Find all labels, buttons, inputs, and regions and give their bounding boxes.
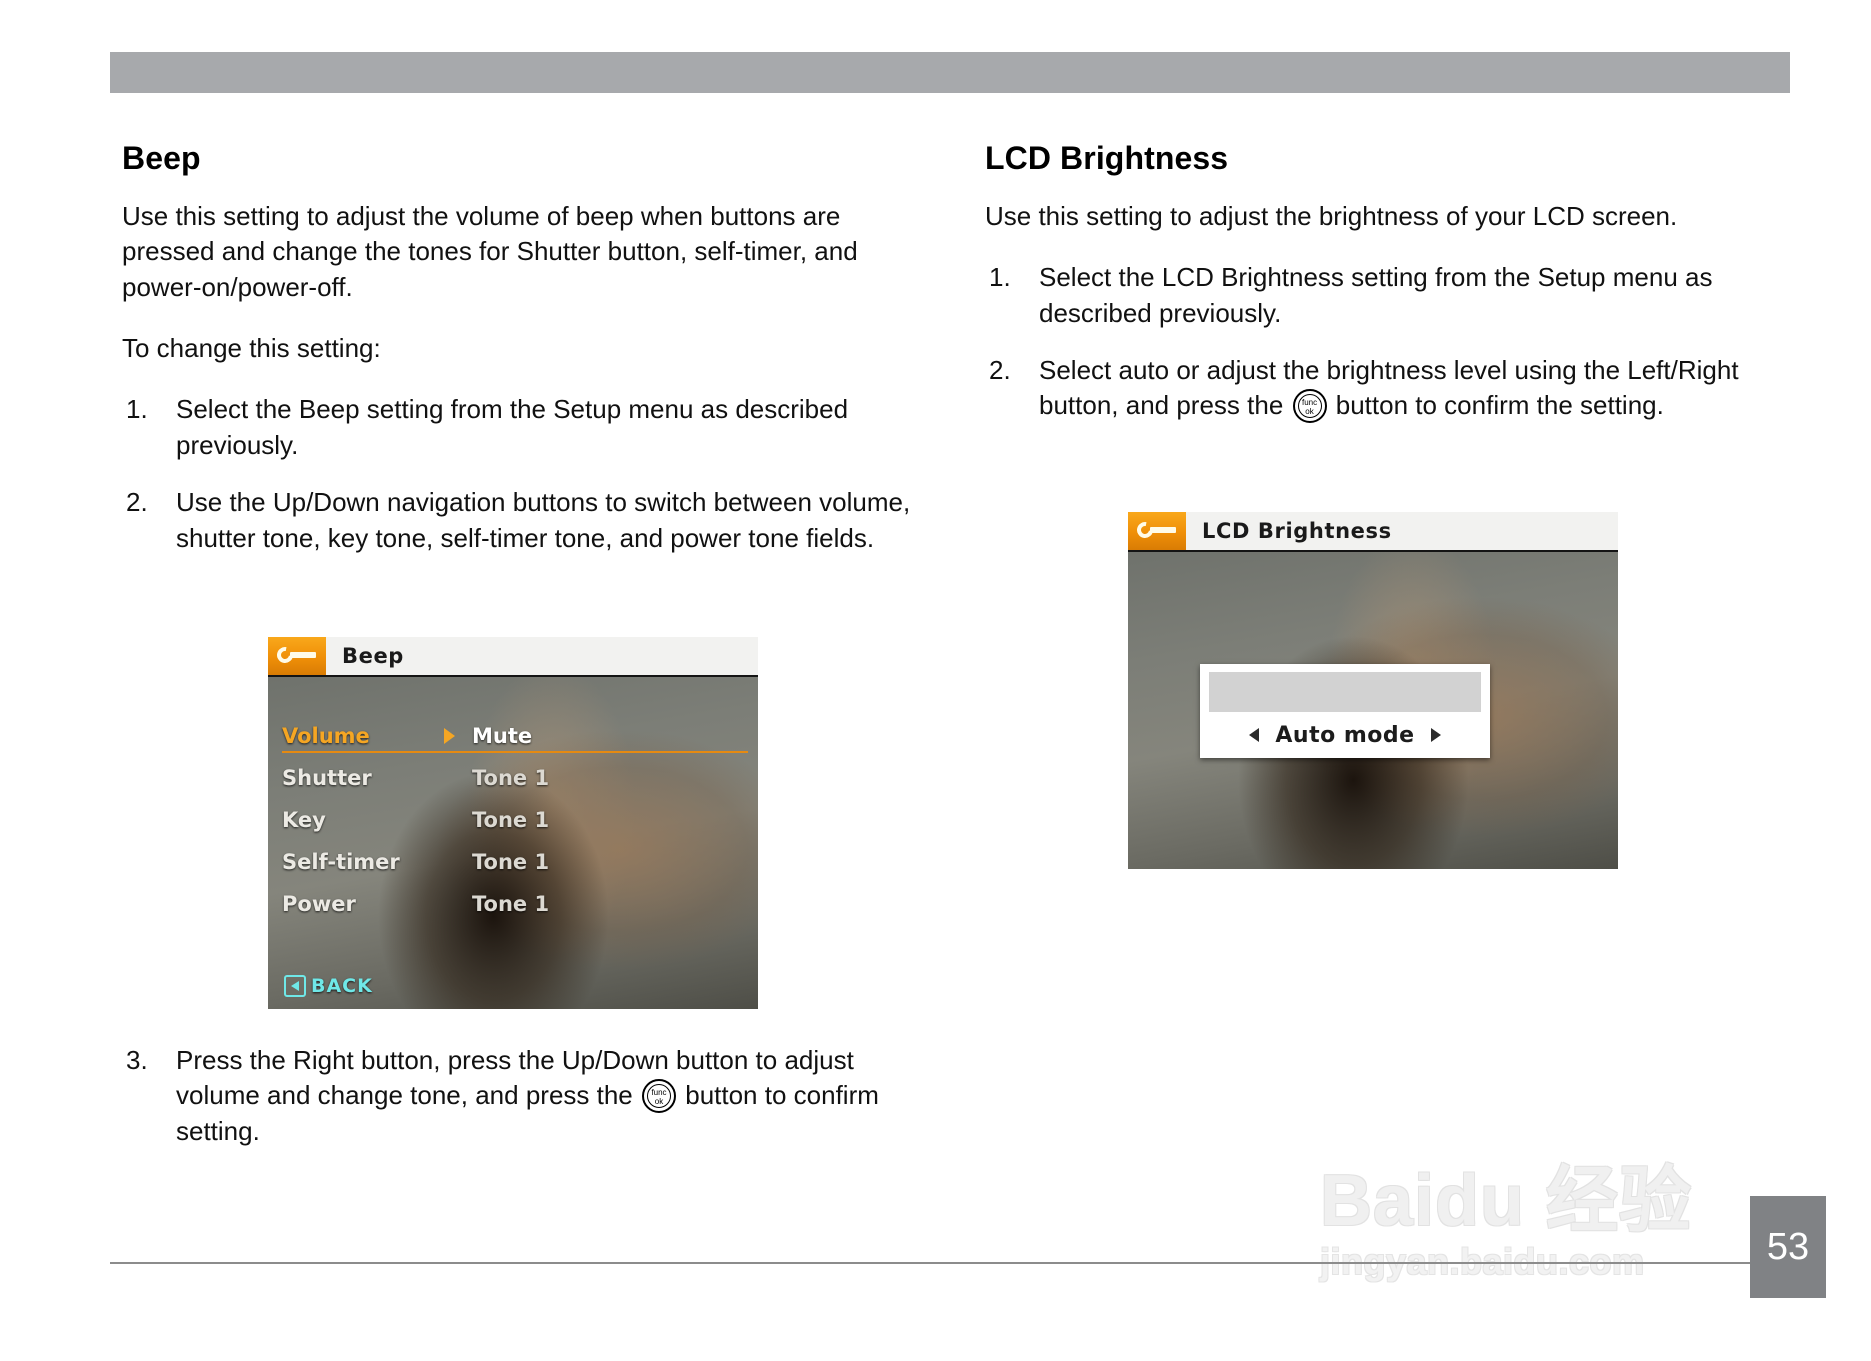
wrench-icon <box>1128 512 1186 550</box>
footer-divider <box>110 1262 1790 1264</box>
lcd-screenshot-titlebar: LCD Brightness <box>1128 512 1618 552</box>
step-number: 1. <box>126 392 166 427</box>
beep-row-label: Key <box>282 808 472 832</box>
beep-row-shutter[interactable]: Shutter Tone 1 <box>268 757 758 799</box>
step-number: 2. <box>989 353 1029 388</box>
left-column: Beep Use this setting to adjust the volu… <box>122 140 912 580</box>
chevron-right-icon[interactable] <box>1431 728 1441 742</box>
back-arrow-icon <box>284 975 306 997</box>
header-band <box>110 52 1790 93</box>
beep-row-value: Tone 1 <box>472 808 549 832</box>
page-number: 53 <box>1750 1196 1826 1298</box>
back-button[interactable]: BACK <box>284 975 373 997</box>
step-text: Select the Beep setting from the Setup m… <box>176 394 848 459</box>
func-ok-button-icon: func ok <box>1293 389 1327 423</box>
beep-step-list: 1. Select the Beep setting from the Setu… <box>122 392 912 555</box>
step-number: 2. <box>126 485 166 520</box>
beep-row-self-timer[interactable]: Self-timer Tone 1 <box>268 841 758 883</box>
func-ok-bottom-label: ok <box>1295 408 1325 416</box>
beep-screenshot-title: Beep <box>326 644 404 668</box>
selection-caret-icon <box>444 728 455 744</box>
list-item: 1. Select the Beep setting from the Setu… <box>122 392 912 463</box>
func-ok-bottom-label: ok <box>644 1098 674 1106</box>
list-item: 1. Select the LCD Brightness setting fro… <box>985 260 1785 331</box>
step-number: 3. <box>126 1043 166 1078</box>
beep-screenshot-body: Volume Mute Shutter Tone 1 Key Tone 1 Se… <box>268 677 758 1009</box>
list-item: 3. Press the Right button, press the Up/… <box>122 1043 912 1149</box>
step-number: 1. <box>989 260 1029 295</box>
beep-row-volume[interactable]: Volume Mute <box>268 715 758 757</box>
beep-row-value: Tone 1 <box>472 850 549 874</box>
lcd-brightness-screenshot: LCD Brightness Auto mode <box>1128 512 1618 867</box>
page-title-beep: Beep <box>122 140 912 177</box>
lcd-intro-paragraph: Use this setting to adjust the brightnes… <box>985 199 1785 234</box>
func-ok-top-label: func <box>1295 399 1325 407</box>
step-text: Select the LCD Brightness setting from t… <box>1039 262 1712 327</box>
beep-row-power[interactable]: Power Tone 1 <box>268 883 758 925</box>
beep-intro-paragraph: Use this setting to adjust the volume of… <box>122 199 912 305</box>
beep-step3-block: 3. Press the Right button, press the Up/… <box>122 1043 912 1173</box>
chevron-left-icon[interactable] <box>1249 728 1259 742</box>
manual-page: Beep Use this setting to adjust the volu… <box>0 0 1871 1361</box>
beep-row-label: Shutter <box>282 766 472 790</box>
beep-row-key[interactable]: Key Tone 1 <box>268 799 758 841</box>
beep-row-label: Self-timer <box>282 850 472 874</box>
beep-row-value: Mute <box>472 724 532 748</box>
baidu-watermark: Baidu 经验 jingyan.baidu.com <box>1320 1162 1790 1322</box>
list-item: 2. Select auto or adjust the brightness … <box>985 353 1785 424</box>
brightness-mode-selector[interactable]: Auto mode <box>1200 712 1490 758</box>
lcd-step-list: 1. Select the LCD Brightness setting fro… <box>985 260 1785 423</box>
beep-menu-screenshot: Beep Volume Mute Shutter Tone 1 Key Tone… <box>268 637 758 1007</box>
func-ok-button-icon: func ok <box>642 1079 676 1113</box>
lcd-screenshot-body: Auto mode <box>1128 552 1618 869</box>
beep-row-label: Power <box>282 892 472 916</box>
step-text: Use the Up/Down navigation buttons to sw… <box>176 487 910 552</box>
lcd-screenshot-title: LCD Brightness <box>1186 519 1392 543</box>
back-button-label: BACK <box>311 975 373 997</box>
wrench-icon <box>268 637 326 675</box>
beep-screenshot-titlebar: Beep <box>268 637 758 677</box>
beep-row-value: Tone 1 <box>472 766 549 790</box>
brightness-level-slot <box>1209 672 1481 712</box>
list-item: 2. Use the Up/Down navigation buttons to… <box>122 485 912 556</box>
beep-settings-rows: Volume Mute Shutter Tone 1 Key Tone 1 Se… <box>268 715 758 925</box>
page-title-lcd-brightness: LCD Brightness <box>985 140 1785 177</box>
brightness-popup-panel: Auto mode <box>1200 664 1490 758</box>
func-ok-top-label: func <box>644 1089 674 1097</box>
right-column: LCD Brightness Use this setting to adjus… <box>985 140 1785 448</box>
step-text-after: button to confirm the setting. <box>1336 390 1664 420</box>
brightness-mode-value: Auto mode <box>1275 723 1414 748</box>
watermark-main-text: Baidu 经验 <box>1320 1162 1790 1240</box>
beep-row-value: Tone 1 <box>472 892 549 916</box>
beep-lead-in: To change this setting: <box>122 331 912 366</box>
beep-step3-list: 3. Press the Right button, press the Up/… <box>122 1043 912 1149</box>
